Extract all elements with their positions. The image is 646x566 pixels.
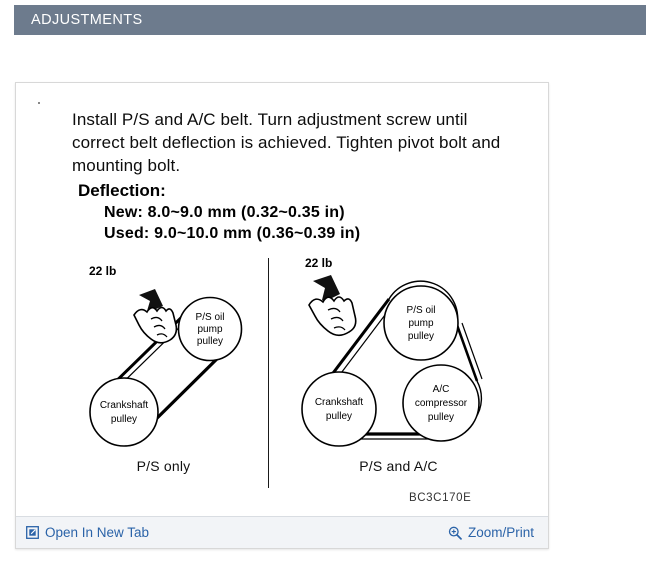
diagram-divider [268, 258, 269, 488]
pulley-crankshaft [302, 372, 376, 446]
deflection-title: Deflection: [78, 180, 360, 202]
pulley-ps-oil-pump-label-line1: P/S oil [407, 305, 436, 316]
open-in-new-tab-icon [26, 526, 39, 539]
instruction-paragraph: Install P/S and A/C belt. Turn adjustmen… [72, 108, 512, 177]
pulley-ps-oil-pump-label-line2: pump [197, 324, 222, 335]
hand-icon [134, 289, 176, 343]
figure-ps-and-ac-drawing: P/S oil pump pulley Crankshaft pulley A/… [291, 253, 506, 458]
zoom-print-button[interactable]: Zoom/Print [448, 525, 534, 540]
force-label-22lb: 22 lb [89, 264, 116, 278]
section-header-bar: ADJUSTMENTS [14, 5, 646, 35]
pulley-ps-oil-pump-label-line1: P/S oil [196, 312, 225, 323]
pulley-crankshaft-label-line2: pulley [111, 414, 137, 425]
bullet-dot-icon [38, 102, 40, 104]
pulley-ac-compressor-label-line2: compressor [415, 398, 468, 409]
figure-reference-code: BC3C170E [409, 492, 471, 504]
pulley-ps-oil-pump-label-line3: pulley [197, 336, 223, 347]
figure-ps-only-drawing: P/S oil pump pulley Crankshaft pulley [71, 253, 256, 458]
diagram-area: P/S oil pump pulley Crankshaft pulley [16, 253, 548, 498]
pulley-ps-oil-pump-label-line3: pulley [408, 331, 434, 342]
pulley-crankshaft [90, 378, 158, 446]
pulley-ps-oil-pump-label-line2: pump [408, 318, 433, 329]
document-card: Install P/S and A/C belt. Turn adjustmen… [15, 82, 549, 549]
zoom-print-label: Zoom/Print [468, 525, 534, 540]
deflection-new-value: New: 8.0~9.0 mm (0.32~0.35 in) [78, 202, 360, 223]
page-title: ADJUSTMENTS [14, 12, 143, 28]
deflection-used-value: Used: 9.0~10.0 mm (0.36~0.39 in) [78, 223, 360, 244]
figure-ps-and-ac-caption: P/S and A/C [291, 458, 506, 474]
open-in-new-tab-button[interactable]: Open In New Tab [26, 525, 149, 540]
pulley-crankshaft-label-line1: Crankshaft [100, 400, 149, 411]
open-in-new-tab-label: Open In New Tab [45, 525, 149, 540]
pulley-ac-compressor-label-line1: A/C [433, 384, 450, 395]
document-body: Install P/S and A/C belt. Turn adjustmen… [16, 83, 548, 516]
figure-ps-only-caption: P/S only [71, 458, 256, 474]
hand-icon [309, 275, 356, 335]
force-label-22lb: 22 lb [305, 256, 332, 270]
pulley-crankshaft-label-line2: pulley [326, 411, 352, 422]
document-action-bar: Open In New Tab Zoom/Print [16, 516, 548, 548]
pulley-ac-compressor-label-line3: pulley [428, 412, 454, 423]
deflection-spec-block: Deflection: New: 8.0~9.0 mm (0.32~0.35 i… [78, 180, 360, 244]
zoom-in-icon [448, 526, 462, 540]
figure-ps-only: P/S oil pump pulley Crankshaft pulley [71, 253, 256, 463]
figure-ps-and-ac: P/S oil pump pulley Crankshaft pulley A/… [291, 253, 506, 463]
pulley-crankshaft-label-line1: Crankshaft [315, 397, 364, 408]
